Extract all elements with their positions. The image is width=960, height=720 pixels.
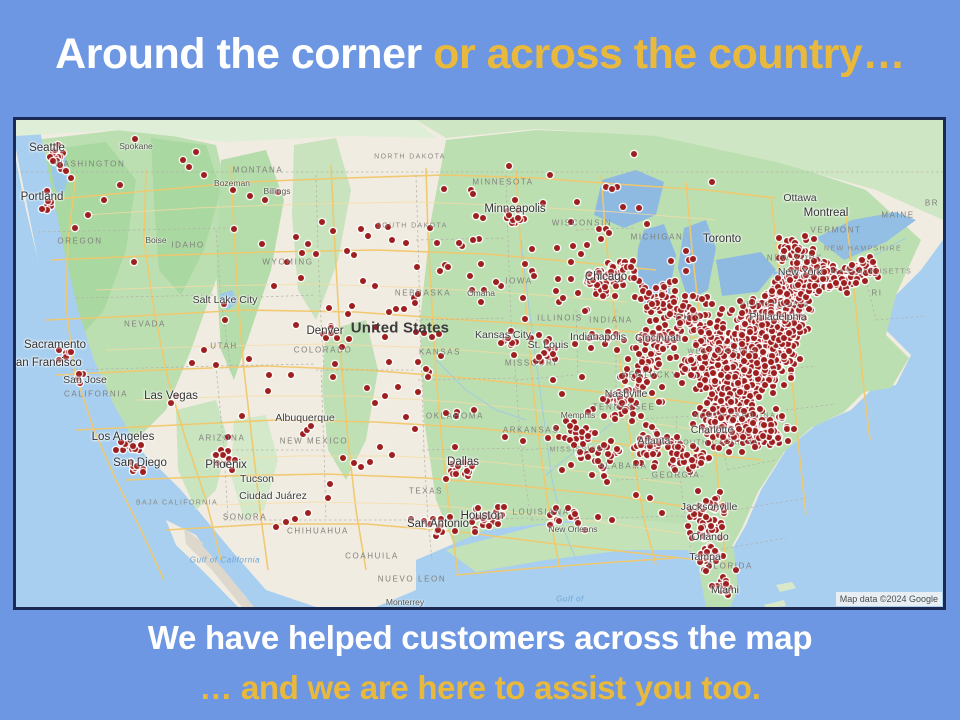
map-basemap[interactable]	[16, 120, 943, 607]
headline-gold-part: or across the country…	[433, 30, 905, 78]
footer-line-1: We have helped customers across the map	[0, 612, 960, 664]
map-attribution: Map data ©2024 Google	[836, 592, 942, 606]
headline-white-part: Around the corner	[55, 30, 433, 78]
footer-text-block: We have helped customers across the map …	[0, 612, 960, 712]
footer-line-2: … and we are here to assist you too.	[0, 664, 960, 712]
page-title: Around the corner or across the country…	[0, 24, 960, 84]
map-container[interactable]: SeattleSpokanePortlandBoiseBozemanBillin…	[13, 117, 946, 610]
